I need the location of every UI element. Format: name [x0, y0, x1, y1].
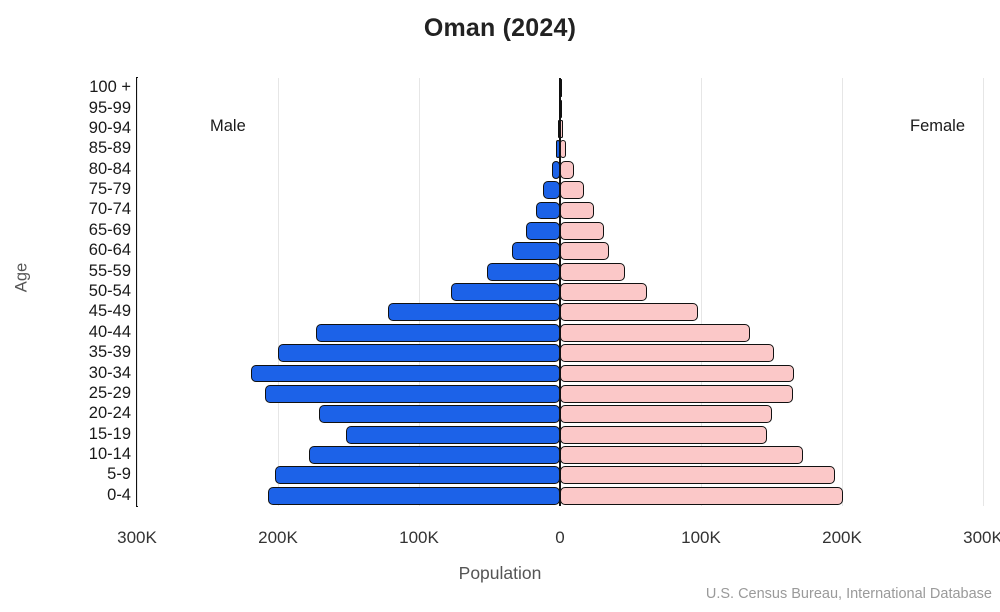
y-tick-label: 15-19: [11, 426, 131, 443]
bar-female[interactable]: [560, 161, 574, 179]
plot-area: [137, 78, 983, 506]
bar-male[interactable]: [275, 466, 560, 484]
y-tick-label: 5-9: [11, 466, 131, 483]
y-tick-label: 65-69: [11, 222, 131, 239]
y-tick-label: 30-34: [11, 365, 131, 382]
zero-axis-line: [559, 78, 561, 506]
bar-female[interactable]: [560, 263, 625, 281]
y-tick-label: 35-39: [11, 344, 131, 361]
bar-female[interactable]: [560, 405, 772, 423]
bar-male[interactable]: [451, 283, 560, 301]
bar-female[interactable]: [560, 181, 584, 199]
bar-male[interactable]: [388, 303, 560, 321]
y-tick-label: 70-74: [11, 201, 131, 218]
bar-female[interactable]: [560, 303, 698, 321]
x-tick-label: 100K: [364, 528, 474, 548]
bar-female[interactable]: [560, 283, 647, 301]
y-tick-label: 40-44: [11, 324, 131, 341]
bar-male[interactable]: [265, 385, 560, 403]
bar-male[interactable]: [512, 242, 560, 260]
bar-male[interactable]: [316, 324, 560, 342]
y-tick-label: 90-94: [11, 120, 131, 137]
bar-female[interactable]: [560, 324, 750, 342]
bar-female[interactable]: [560, 487, 843, 505]
chart-title: Oman (2024): [0, 14, 1000, 43]
y-tick-label: 0-4: [11, 487, 131, 504]
y-tick-label: 75-79: [11, 181, 131, 198]
bar-male[interactable]: [309, 446, 560, 464]
x-tick-label: 200K: [787, 528, 897, 548]
bar-female[interactable]: [560, 446, 803, 464]
bar-male[interactable]: [536, 202, 560, 220]
population-pyramid-chart: Oman (2024) 100 +95-9990-9485-8980-8475-…: [0, 0, 1000, 612]
bar-male[interactable]: [543, 181, 560, 199]
source-attribution: U.S. Census Bureau, International Databa…: [706, 586, 992, 602]
y-tick-label: 10-14: [11, 446, 131, 463]
series-label-female: Female: [910, 117, 965, 136]
x-tick-label: 100K: [646, 528, 756, 548]
bar-male[interactable]: [487, 263, 560, 281]
y-tick-label: 95-99: [11, 100, 131, 117]
x-tick-label: 0: [505, 528, 615, 548]
x-tick-label: 300K: [928, 528, 1000, 548]
bar-female[interactable]: [560, 426, 767, 444]
bar-male[interactable]: [268, 487, 560, 505]
y-axis-title: Age: [13, 238, 32, 318]
y-tick-label: 85-89: [11, 140, 131, 157]
bar-male[interactable]: [278, 344, 560, 362]
bar-female[interactable]: [560, 242, 609, 260]
y-tick-label: 20-24: [11, 405, 131, 422]
x-axis-title: Population: [0, 563, 1000, 584]
bar-male[interactable]: [251, 365, 560, 383]
bar-female[interactable]: [560, 365, 794, 383]
bar-female[interactable]: [560, 466, 835, 484]
y-tick-label: 100 +: [11, 79, 131, 96]
series-label-male: Male: [210, 117, 246, 136]
bar-male[interactable]: [319, 405, 560, 423]
bar-female[interactable]: [560, 202, 594, 220]
y-tick-label: 80-84: [11, 161, 131, 178]
bar-female[interactable]: [560, 222, 604, 240]
bar-male[interactable]: [346, 426, 560, 444]
y-tick-label: 25-29: [11, 385, 131, 402]
x-tick-label: 300K: [82, 528, 192, 548]
bar-male[interactable]: [526, 222, 560, 240]
bar-female[interactable]: [560, 385, 793, 403]
x-tick-label: 200K: [223, 528, 333, 548]
bar-female[interactable]: [560, 344, 774, 362]
